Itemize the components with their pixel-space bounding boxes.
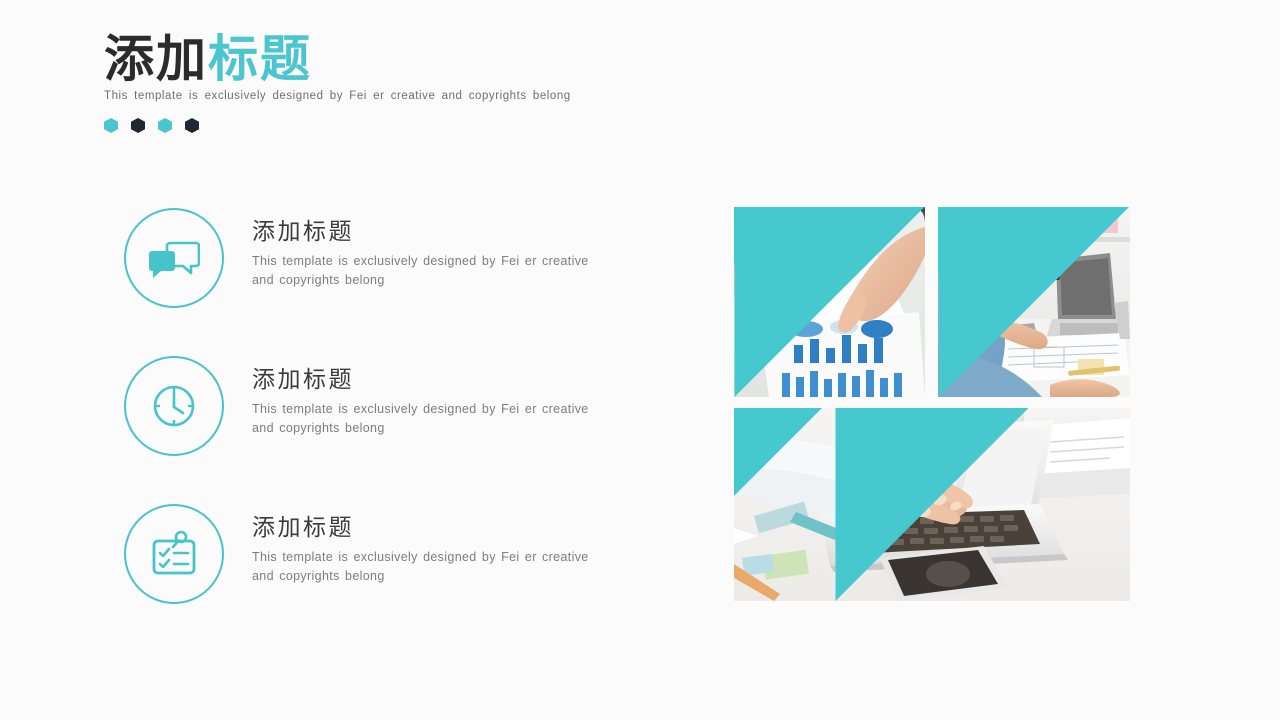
feature-description-1: This template is exclusively designed by… — [252, 252, 592, 291]
feature-item-2[interactable]: 添加标题 This template is exclusively design… — [124, 354, 604, 502]
clock-icon — [124, 356, 224, 456]
feature-text-1: 添加标题 This template is exclusively design… — [252, 206, 592, 290]
feature-title-3: 添加标题 — [252, 514, 592, 542]
feature-title-1: 添加标题 — [252, 218, 592, 246]
page-subtitle: This template is exclusively designed by… — [104, 90, 724, 102]
photo-man-at-desk-with-laptop[interactable] — [938, 207, 1130, 397]
clipboard-checklist-icon — [124, 504, 224, 604]
hexagon-4-icon — [185, 118, 199, 133]
photo-hands-typing-on-laptop[interactable] — [734, 408, 1130, 601]
hexagon-2-icon — [131, 118, 145, 133]
feature-title-2: 添加标题 — [252, 366, 592, 394]
feature-description-3: This template is exclusively designed by… — [252, 548, 592, 587]
feature-description-2: This template is exclusively designed by… — [252, 400, 592, 439]
feature-text-2: 添加标题 This template is exclusively design… — [252, 354, 592, 438]
hexagon-3-icon — [158, 118, 172, 133]
hexagon-decoration-row — [104, 118, 724, 133]
hexagon-1-icon — [104, 118, 118, 133]
feature-text-3: 添加标题 This template is exclusively design… — [252, 502, 592, 586]
page-title-teal: 标题 — [208, 31, 312, 87]
photo-collage — [734, 207, 1130, 601]
feature-list: 添加标题 This template is exclusively design… — [124, 206, 604, 650]
slide-header: 添加标题 This template is exclusively design… — [104, 32, 724, 133]
chat-bubbles-icon — [124, 208, 224, 308]
page-title: 添加标题 — [104, 32, 724, 86]
feature-item-3[interactable]: 添加标题 This template is exclusively design… — [124, 502, 604, 650]
photo-hands-pointing-at-bar-charts[interactable] — [734, 207, 925, 397]
feature-item-1[interactable]: 添加标题 This template is exclusively design… — [124, 206, 604, 354]
page-title-dark: 添加 — [104, 31, 208, 87]
